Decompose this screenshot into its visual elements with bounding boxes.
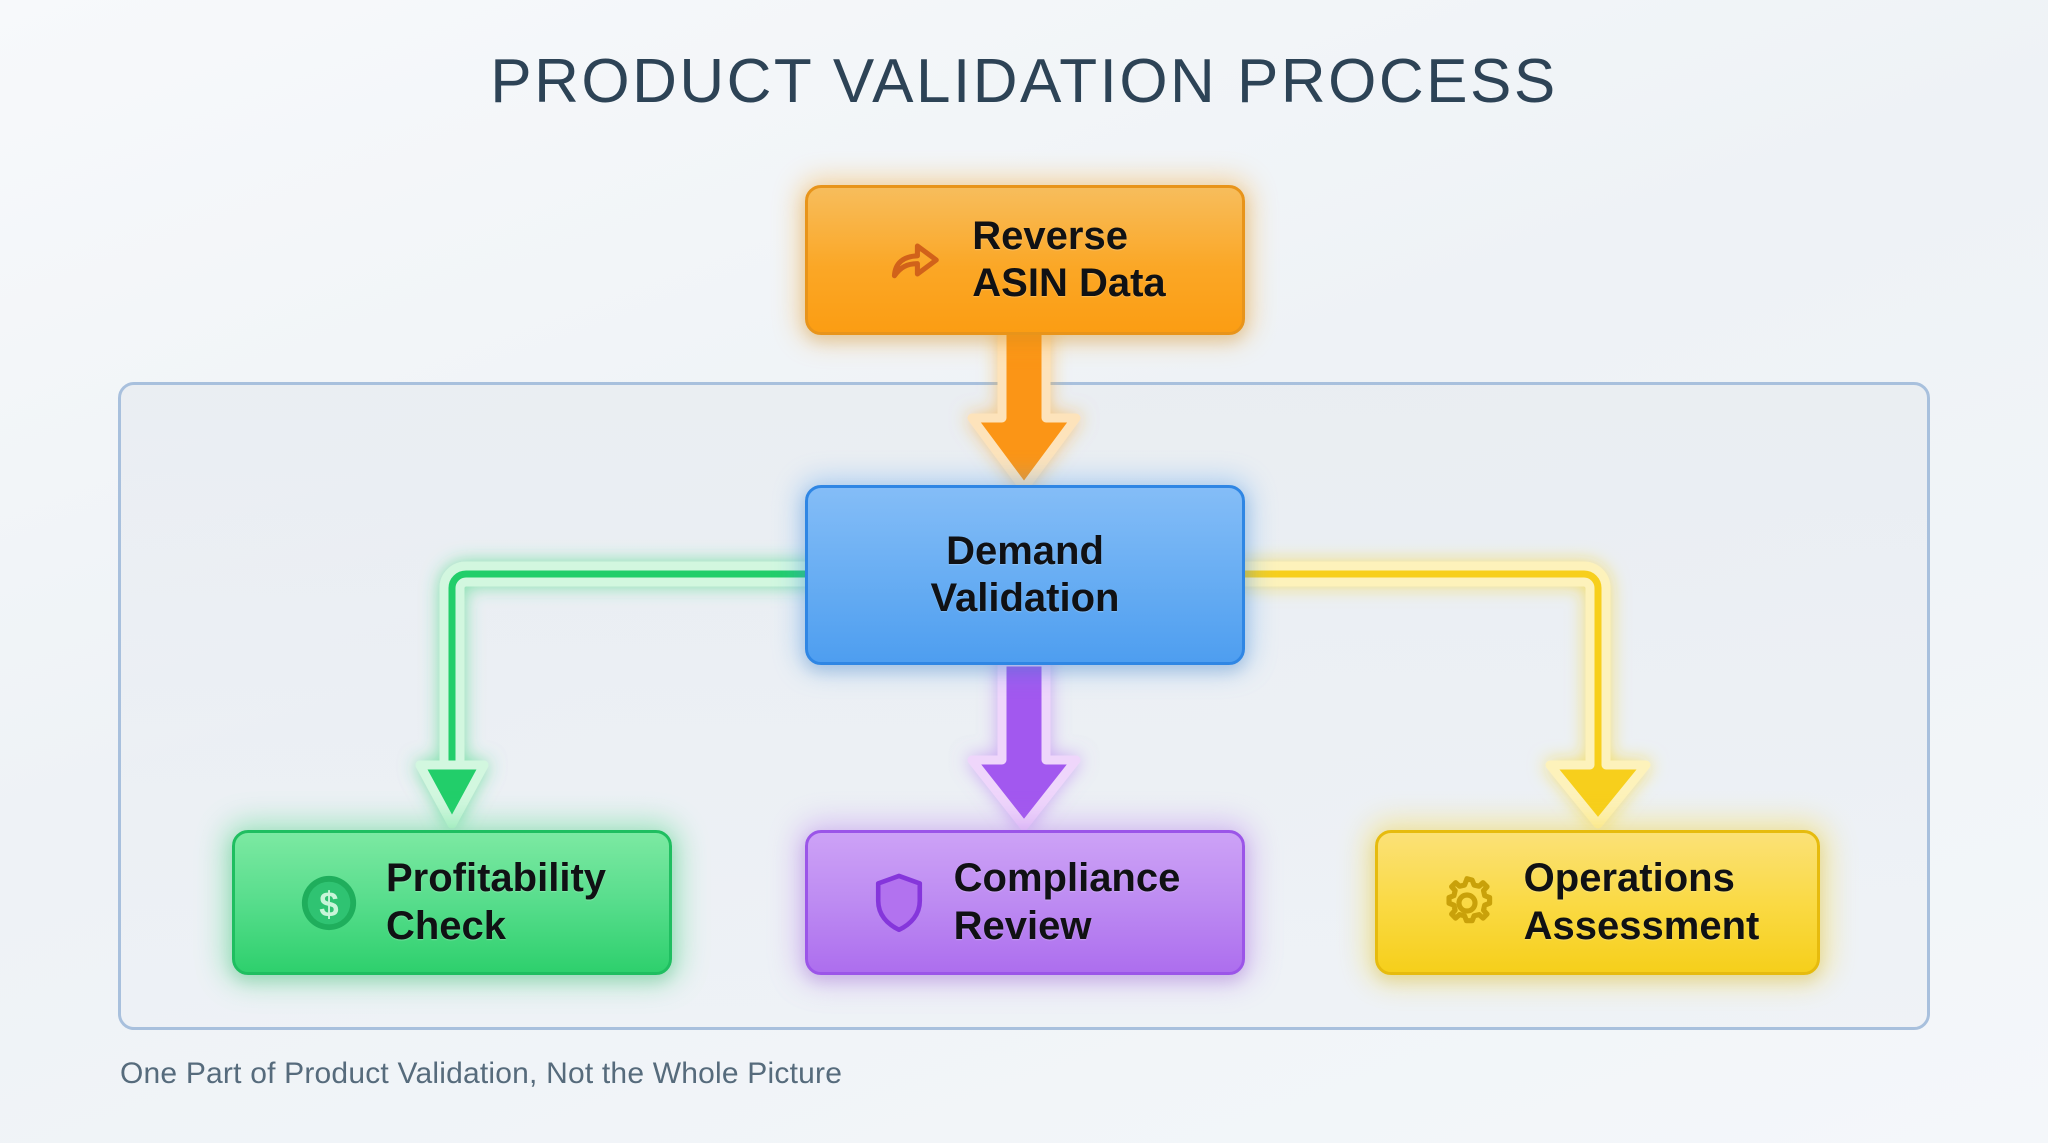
footer-caption: One Part of Product Validation, Not the … (120, 1057, 842, 1091)
node-profitability-check[interactable]: $ Profitability Check (232, 830, 672, 975)
dollar-circle-icon: $ (298, 872, 360, 934)
gear-icon (1436, 872, 1498, 934)
node-operations-assessment[interactable]: Operations Assessment (1375, 830, 1820, 975)
diagram-canvas: PRODUCT VALIDATION PROCESS (0, 0, 2048, 1143)
node-label: Profitability Check (386, 855, 606, 949)
shield-icon (870, 871, 928, 935)
node-compliance-review[interactable]: Compliance Review (805, 830, 1245, 975)
node-label: Demand Validation (931, 528, 1120, 622)
node-label: Operations Assessment (1524, 855, 1760, 949)
node-label: Reverse ASIN Data (972, 213, 1165, 307)
node-reverse-asin-data[interactable]: Reverse ASIN Data (805, 185, 1245, 335)
node-label: Compliance Review (954, 855, 1181, 949)
svg-text:$: $ (319, 885, 338, 924)
page-title: PRODUCT VALIDATION PROCESS (0, 46, 2048, 117)
node-demand-validation[interactable]: Demand Validation (805, 485, 1245, 665)
share-arrow-icon (884, 231, 946, 289)
